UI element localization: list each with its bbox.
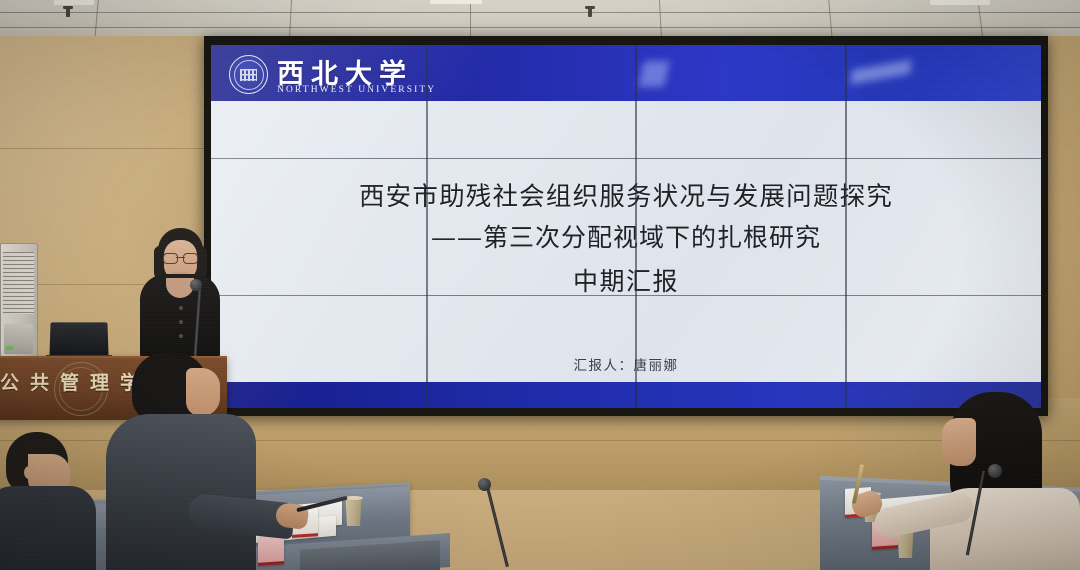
seated-attendee-left: [100, 352, 250, 570]
slide-title-line-3: 中期汇报: [211, 262, 1041, 298]
table-microphone-right: [988, 464, 1002, 478]
slide-title-block: 西安市助残社会组织服务状况与发展问题探究 ——第三次分配视域下的扎根研究 中期汇…: [211, 180, 1041, 298]
slide-footer-band: [211, 382, 1041, 408]
sprinkler-icon: [588, 8, 592, 17]
podium-microphone: [190, 279, 202, 291]
ac-power-led: [6, 346, 13, 350]
panel-seam-v: [845, 45, 847, 408]
panel-seam-v: [426, 45, 428, 408]
air-conditioner: [0, 243, 38, 365]
presentation-slide: 西北大学 NORTHWEST UNIVERSITY 西安市助残社会组织服务状况与…: [211, 45, 1041, 408]
ceiling-light: [930, 0, 990, 5]
standing-presenter: [132, 228, 228, 360]
sprinkler-icon: [66, 8, 70, 17]
ceiling-light: [430, 0, 482, 4]
ac-vents: [3, 252, 34, 314]
slide-title-line-2: ——第三次分配视域下的扎根研究: [211, 220, 1041, 256]
table-microphone-left-stand: [486, 487, 509, 567]
paper-cup-left: [344, 498, 363, 526]
seated-attendee-front-left: [0, 432, 100, 570]
video-wall-screen[interactable]: 西北大学 NORTHWEST UNIVERSITY 西安市助残社会组织服务状况与…: [211, 45, 1041, 408]
brand-name-en: NORTHWEST UNIVERSITY: [277, 85, 436, 95]
panel-seam-h: [211, 295, 1041, 296]
slide-header-band: 西北大学 NORTHWEST UNIVERSITY: [211, 45, 1041, 101]
slide-body: 西安市助残社会组织服务状况与发展问题探究 ——第三次分配视域下的扎根研究 中期汇…: [211, 101, 1041, 382]
panel-seam-h: [211, 158, 1041, 159]
slide-title-line-1: 西安市助残社会组织服务状况与发展问题探究: [211, 180, 1041, 215]
table-microphone-left: [478, 478, 491, 491]
conference-room-photo: 西北大学 NORTHWEST UNIVERSITY 西安市助残社会组织服务状况与…: [0, 0, 1080, 570]
ceiling: [0, 0, 1080, 40]
name-card-left: [258, 535, 284, 566]
slide-presenter: 汇报人：唐丽娜: [211, 353, 1041, 381]
ceiling-light: [54, 0, 94, 5]
ceiling-panel-grid: [0, 0, 1080, 40]
glasses-icon: [163, 253, 198, 262]
university-seal-icon: [229, 55, 268, 94]
video-wall[interactable]: 西北大学 NORTHWEST UNIVERSITY 西安市助残社会组织服务状况与…: [204, 36, 1048, 416]
seated-attendee-right: [932, 392, 1080, 570]
panel-seam-v: [635, 45, 637, 408]
